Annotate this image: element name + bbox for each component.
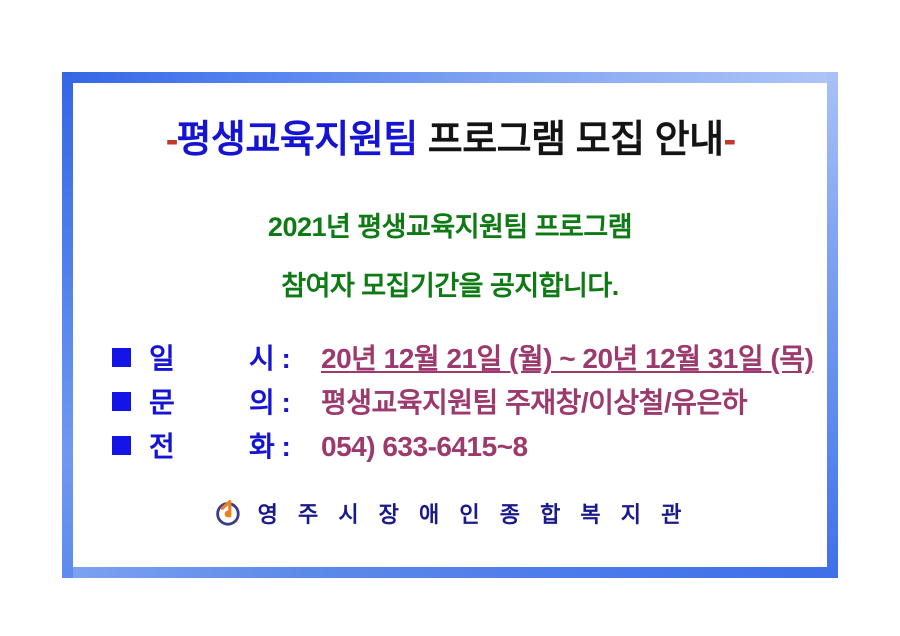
info-value-schedule: 20년 12월 21일 (월) ~ 20년 12월 31일 (목) — [321, 337, 813, 381]
welfare-center-logo-icon — [212, 497, 242, 527]
subtitle-line-2: 참여자 모집기간을 공지합니다. — [73, 273, 827, 300]
info-label-a-inquiry: 문 — [149, 381, 249, 425]
info-label-b-inquiry: 의 : — [249, 381, 321, 425]
info-value-inquiry: 평생교육지원팀 주재창/이상철/유은하 — [321, 381, 747, 425]
title-rest: 프로그램 모집 안내 — [418, 119, 724, 161]
info-label-b-schedule: 시 : — [249, 337, 321, 381]
bullet-square-icon — [112, 436, 131, 455]
info-value-phone: 054) 633-6415~8 — [321, 425, 528, 469]
organization-name: 영 주 시 장 애 인 종 합 복 지 관 — [258, 497, 689, 529]
title-dash-right: - — [724, 119, 735, 161]
announcement-poster: -평생교육지원팀 프로그램 모집 안내- 2021년 평생교육지원팀 프로그램 … — [0, 0, 900, 636]
info-row-inquiry: 문의 :평생교육지원팀 주재창/이상철/유은하 — [112, 381, 827, 425]
info-list: 일시 :20년 12월 21일 (월) ~ 20년 12월 31일 (목) 문의… — [112, 337, 827, 469]
info-label-a-schedule: 일 — [149, 337, 249, 381]
poster-frame: -평생교육지원팀 프로그램 모집 안내- 2021년 평생교육지원팀 프로그램 … — [62, 72, 838, 578]
title-highlight: 평생교육지원팀 — [176, 119, 417, 161]
info-row-schedule: 일시 :20년 12월 21일 (월) ~ 20년 12월 31일 (목) — [112, 337, 827, 381]
poster-content: -평생교육지원팀 프로그램 모집 안내- 2021년 평생교육지원팀 프로그램 … — [73, 83, 827, 567]
title-dash-left: - — [166, 119, 177, 161]
page-title: -평생교육지원팀 프로그램 모집 안내- — [73, 121, 827, 159]
info-row-phone: 전화 :054) 633-6415~8 — [112, 425, 827, 469]
subtitle-line-1: 2021년 평생교육지원팀 프로그램 — [73, 214, 827, 241]
bullet-square-icon — [112, 392, 131, 411]
info-label-a-phone: 전 — [149, 425, 249, 469]
frame-border-right — [827, 72, 838, 578]
bullet-square-icon — [112, 348, 131, 367]
frame-border-top — [62, 72, 838, 83]
frame-border-bottom — [62, 567, 838, 578]
info-label-b-phone: 화 : — [249, 425, 321, 469]
frame-border-left — [62, 72, 73, 578]
footer: 영 주 시 장 애 인 종 합 복 지 관 — [73, 497, 827, 529]
